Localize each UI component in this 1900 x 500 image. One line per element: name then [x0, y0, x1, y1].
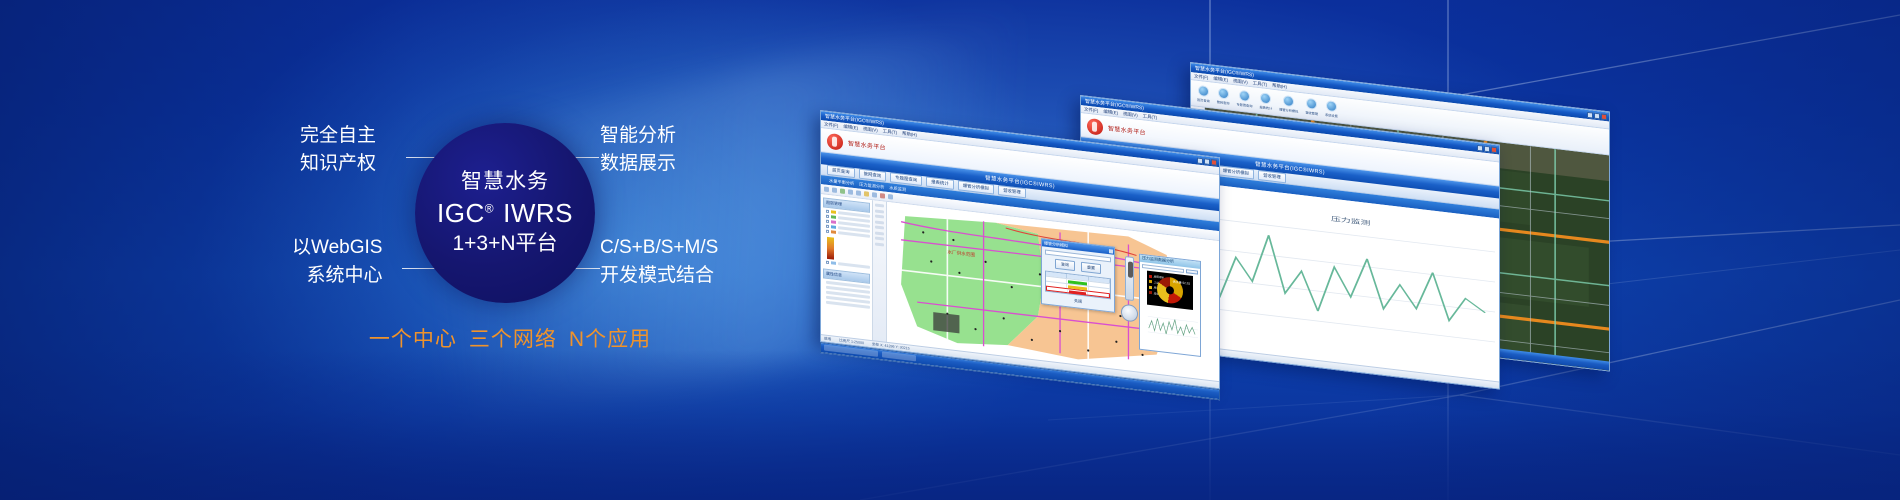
close-icon[interactable] [1491, 146, 1497, 153]
taskbar-button-1[interactable] [882, 351, 916, 361]
menu-item-view-3[interactable]: 视图(V) [863, 126, 878, 134]
brand-name-analysis: 智慧水务平台 [1108, 123, 1146, 136]
ribbon-icon-1 [1218, 87, 1229, 99]
tool-identify-icon[interactable] [880, 193, 885, 199]
feature-top-left-line2: 知识产权 [300, 150, 376, 178]
hub-product: IWRS [503, 198, 573, 228]
ribbon-icon-5 [1306, 98, 1317, 110]
close-icon[interactable] [1601, 113, 1607, 120]
hub-brand: IGC [437, 198, 485, 228]
chart-refresh-button[interactable] [1186, 269, 1198, 274]
ribbon-icon-0 [1198, 85, 1209, 97]
dialog-query-button[interactable]: 查询 [1055, 259, 1075, 271]
ribbon-icon-4 [1283, 95, 1294, 107]
supply-pie-chart: 居民用水 工业用水 商业用水 其他用水 供水量 52.25 [1147, 271, 1193, 310]
feature-bottom-left: 以WebGIS 系统中心 [292, 234, 382, 289]
menu-item-file-2[interactable]: 文件(F) [1084, 106, 1098, 114]
menu-item-tools[interactable]: 工具(T) [1253, 80, 1267, 88]
menu-item-tools-3[interactable]: 工具(T) [883, 128, 897, 136]
ribbon-label-4: 爆管分析模拟 [1279, 107, 1298, 114]
sparkline-svg [1142, 308, 1198, 344]
side-tool-5[interactable] [875, 231, 884, 235]
side-tool-3[interactable] [875, 220, 884, 224]
burst-analysis-dialog[interactable]: 爆管分析模拟 查询 重置 [1041, 238, 1115, 313]
dialog-close-icon[interactable] [1109, 249, 1113, 253]
tagline-part-3: N个应用 [569, 328, 651, 351]
feature-top-right-line2: 数据展示 [600, 150, 676, 178]
minimize-icon[interactable] [1197, 157, 1203, 164]
infographic: 智慧水务 IGC®IWRS 1+3+N平台 完全自主 知识产权 智能分析 数据展… [0, 0, 800, 500]
hub-product-name: IGC®IWRS [437, 200, 573, 227]
side-tool-1[interactable] [875, 209, 884, 213]
feature-bottom-right-line1: C/S+B/S+M/S [600, 237, 718, 258]
menu-item-help-3[interactable]: 帮助(H) [902, 130, 917, 138]
hub-chinese-title: 智慧水务 [461, 170, 549, 193]
menu-item-help[interactable]: 帮助(H) [1272, 82, 1287, 90]
minimize-icon[interactable] [1587, 111, 1593, 118]
registered-mark-icon: ® [485, 201, 494, 215]
ribbon-button-3[interactable]: 报表统计 [1259, 92, 1272, 111]
menu-item-edit-3[interactable]: 编辑(E) [843, 123, 858, 131]
company-logo-icon-gis [827, 132, 843, 150]
maximize-icon[interactable] [1204, 158, 1210, 165]
tool-zoom-in-icon[interactable] [848, 189, 853, 195]
tool-save-icon[interactable] [832, 187, 837, 193]
screenshot-cluster: 智慧水务平台(IGC®IWRS) 文件(F) 编辑(E) 视图(V) 工具(T)… [780, 0, 1900, 500]
feature-top-right: 智能分析 数据展示 [600, 122, 676, 177]
menu-item-file[interactable]: 文件(F) [1194, 73, 1208, 81]
menu-item-tools-2[interactable]: 工具(T) [1143, 113, 1157, 121]
ribbon-label-0: 首页查询 [1197, 97, 1210, 104]
brand-name-gis: 智慧水务平台 [848, 138, 886, 151]
ribbon-button-2[interactable]: 专题图查询 [1237, 89, 1253, 108]
feature-top-left-line1: 完全自主 [300, 125, 376, 146]
menu-item-view[interactable]: 视图(V) [1233, 78, 1248, 86]
ribbon-button-6[interactable]: 系统设置 [1325, 100, 1338, 119]
maximize-icon[interactable] [1484, 145, 1490, 152]
zoom-slider[interactable] [1125, 256, 1134, 301]
side-tool-0[interactable] [875, 203, 884, 207]
gis-side-tools[interactable] [873, 200, 887, 343]
menu-item-view-2[interactable]: 视图(V) [1123, 111, 1138, 119]
tool-measure-icon[interactable] [872, 192, 877, 198]
company-logo-icon [1087, 117, 1103, 135]
sub-nav-gis-2[interactable]: 水质监测 [889, 185, 906, 193]
dialog-reset-button[interactable]: 重置 [1081, 262, 1101, 274]
ribbon-icon-6 [1326, 100, 1337, 112]
ribbon-button-4[interactable]: 爆管分析模拟 [1279, 95, 1298, 114]
feature-bottom-right-line2: 开发模式结合 [600, 262, 718, 290]
maximize-icon[interactable] [1594, 112, 1600, 119]
tool-select-icon[interactable] [864, 191, 869, 197]
ribbon-label-2: 专题图查询 [1237, 101, 1253, 108]
app-window-gis[interactable]: 智慧水务平台(IGC®IWRS) 文件(F) 编辑(E) 视图(V) 工具(T)… [820, 110, 1220, 389]
side-tool-7[interactable] [875, 242, 884, 246]
feature-bottom-left-line2: 系统中心 [292, 262, 382, 290]
feature-top-right-line1: 智能分析 [600, 125, 676, 146]
tool-print-icon[interactable] [888, 194, 893, 200]
ribbon-icon-2 [1239, 90, 1250, 102]
status-ready-gis: 就绪 [824, 336, 831, 342]
menu-item-file-3[interactable]: 文件(F) [824, 121, 838, 129]
tool-pan-icon[interactable] [840, 188, 845, 194]
ribbon-icon-3 [1260, 92, 1271, 104]
chart-window[interactable]: 压力监测数据分析 居民用水 工业用水 商业用水 其他用水 [1139, 254, 1201, 357]
ribbon-button-1[interactable]: 管网查询 [1217, 87, 1230, 106]
feature-top-left: 完全自主 知识产权 [300, 122, 376, 177]
tagline-part-1: 一个中心 [369, 328, 457, 351]
side-tool-2[interactable] [875, 214, 884, 218]
ribbon-button-0[interactable]: 首页查询 [1197, 85, 1210, 104]
dialog-body: 查询 重置 关阀 [1042, 246, 1114, 311]
legend-ramp [827, 237, 834, 260]
tagline-part-2: 三个网络 [469, 328, 557, 351]
feature-bottom-left-line1: 以WebGIS [292, 237, 382, 258]
minimize-icon[interactable] [1477, 144, 1483, 151]
feature-bottom-right: C/S+B/S+M/S 开发模式结合 [600, 234, 718, 289]
ribbon-label-5: 营收管理 [1305, 110, 1318, 117]
close-icon[interactable] [1211, 159, 1217, 166]
ribbon-label-6: 系统设置 [1325, 112, 1338, 119]
tagline: 一个中心三个网络N个应用 [300, 323, 720, 353]
hub-platform-label: 1+3+N平台 [452, 231, 557, 256]
menu-item-edit[interactable]: 编辑(E) [1213, 75, 1228, 83]
ribbon-button-5[interactable]: 营收管理 [1305, 98, 1318, 117]
tool-open-icon[interactable] [824, 186, 829, 192]
ribbon-label-3: 报表统计 [1259, 104, 1272, 111]
hero-banner: 智慧水务 IGC®IWRS 1+3+N平台 完全自主 知识产权 智能分析 数据展… [0, 0, 1900, 500]
platform-hub-circle: 智慧水务 IGC®IWRS 1+3+N平台 [415, 123, 595, 303]
ribbon-label-1: 管网查询 [1217, 99, 1230, 106]
side-tool-6[interactable] [875, 236, 884, 240]
side-tool-4[interactable] [875, 225, 884, 229]
tool-zoom-out-icon[interactable] [856, 190, 861, 196]
layer-row[interactable] [823, 260, 870, 269]
layer-tree-pane[interactable]: 图层管理 属性信息 [821, 194, 873, 341]
zoom-slider-handle[interactable] [1128, 261, 1133, 278]
menu-item-edit-2[interactable]: 编辑(E) [1103, 108, 1118, 116]
chart-sparkline-area [1140, 306, 1200, 346]
